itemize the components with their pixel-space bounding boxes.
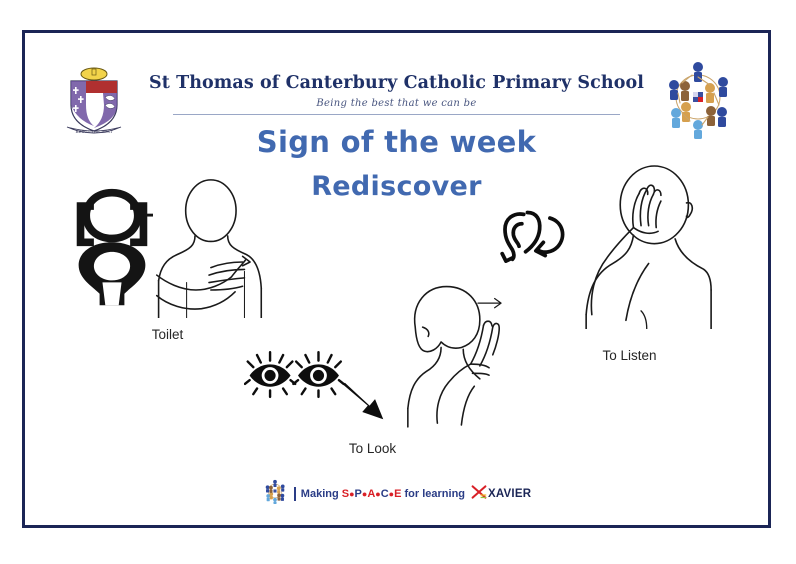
xavier-x-icon	[471, 484, 487, 503]
header-divider	[173, 114, 620, 115]
space-letter-c: C	[381, 488, 389, 500]
person-hand-on-chest-icon	[153, 178, 265, 323]
school-motto: Being the best that we can be	[25, 98, 768, 109]
person-hand-cupped-to-ear-icon	[571, 163, 713, 334]
sign-card-listen: To Listen	[487, 163, 722, 363]
children-circle-logo-icon	[262, 478, 288, 509]
toilet-icon	[71, 186, 153, 315]
ear-with-arrows-icon	[497, 205, 571, 268]
poster-page: BEING THE BEST	[22, 30, 771, 528]
tagline-for-learning: for learning	[405, 488, 466, 500]
tagline-making: Making	[301, 488, 339, 500]
sign-card-toilet: Toilet	[60, 178, 275, 342]
sign-caption-look: To Look	[265, 441, 480, 456]
person-v-fingers-at-eyes-icon	[382, 278, 502, 433]
eyes-with-arrow-icon	[244, 336, 352, 407]
sign-caption-listen: To Listen	[487, 348, 722, 363]
space-letter-e: E	[394, 488, 401, 500]
space-letter-s: S	[342, 488, 349, 500]
space-letter-p: P	[355, 488, 362, 500]
headline: Sign of the week	[25, 125, 768, 159]
sign-card-look: To Look	[265, 278, 480, 456]
making-space-tagline: Making S●P●A●C●E for learning	[294, 487, 465, 501]
xavier-text: XAVIER	[488, 488, 531, 500]
page-title: St Thomas of Canterbury Catholic Primary…	[25, 73, 768, 93]
footer: Making S●P●A●C●E for learning XAVIER	[25, 478, 768, 509]
xavier-logo: XAVIER	[471, 484, 531, 503]
